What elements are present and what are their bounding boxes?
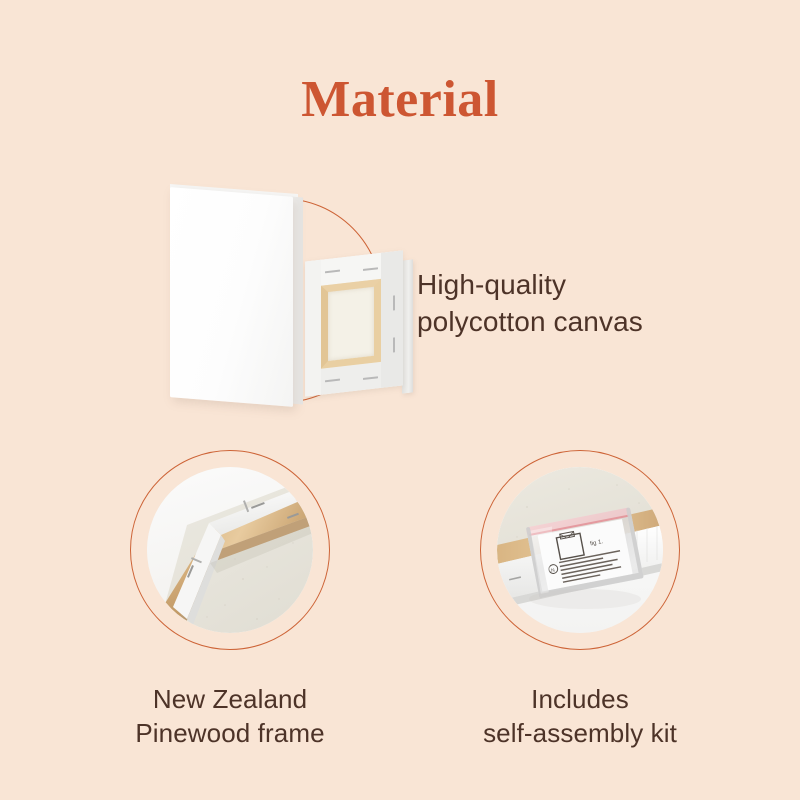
feature-top-caption-line2: polycotton canvas <box>417 303 757 340</box>
feature-assembly-kit-caption: Includes self-assembly kit <box>450 682 710 750</box>
staple-mark <box>393 337 395 352</box>
canvas-back-depth-edge <box>402 259 413 393</box>
feature-pinewood-caption-line2: Pinewood frame <box>100 716 360 750</box>
self-assembly-kit-packet-photo: fig 1. N <box>497 467 663 633</box>
canvas-back-fabric <box>321 279 381 369</box>
stretcher-rail-left <box>305 260 321 397</box>
page-title: Material <box>0 74 800 126</box>
feature-pinewood-caption-line1: New Zealand <box>100 682 360 716</box>
canvas-front-face <box>170 187 293 407</box>
pinewood-frame-corner-photo <box>147 467 313 633</box>
feature-top-caption-line1: High-quality <box>417 266 757 303</box>
material-feature-card: Material High-quality polycotton canvas <box>0 0 800 800</box>
canvas-back-panel <box>305 250 403 396</box>
feature-pinewood-caption: New Zealand Pinewood frame <box>100 682 360 750</box>
stretcher-rail-right <box>381 250 403 388</box>
feature-assembly-kit-caption-line2: self-assembly kit <box>450 716 710 750</box>
feature-assembly-kit-caption-line1: Includes <box>450 682 710 716</box>
staple-mark <box>393 295 395 310</box>
feature-top-caption: High-quality polycotton canvas <box>417 266 757 340</box>
canvas-front-and-back-photo <box>150 180 420 420</box>
